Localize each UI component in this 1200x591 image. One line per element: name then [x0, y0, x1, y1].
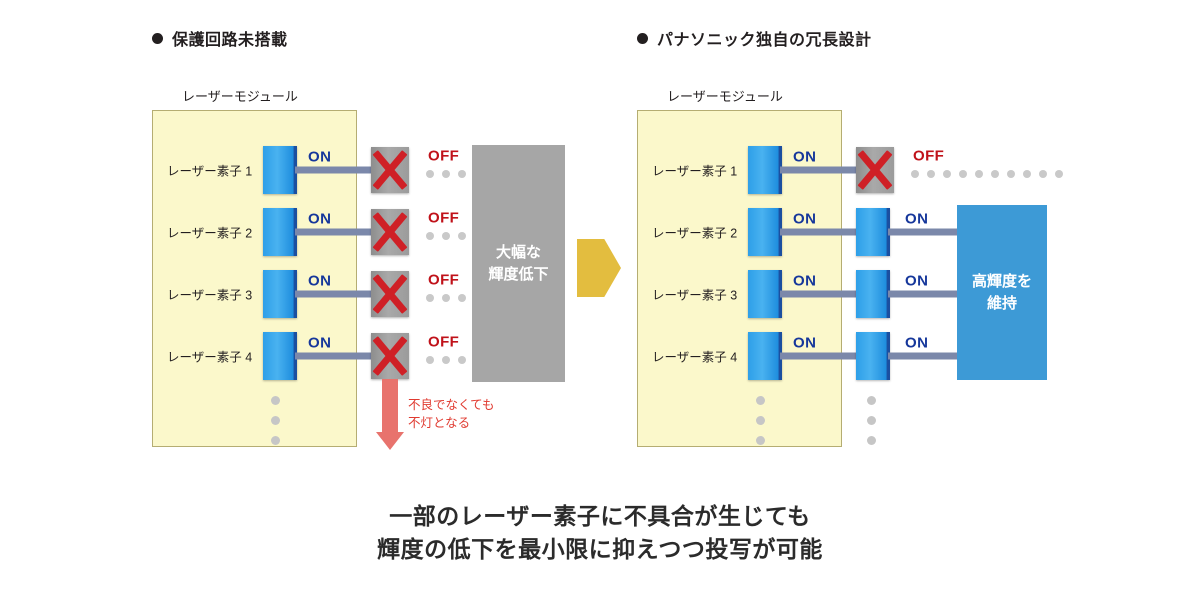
left-off-label-4: OFF — [428, 334, 459, 351]
right-module-caption: レーザーモジュール — [667, 86, 783, 105]
right-output-wire-2 — [888, 229, 958, 236]
right-output-wire-4 — [888, 353, 958, 360]
right-emitter-2 — [748, 208, 782, 256]
left-heading-text: 保護回路未搭載 — [172, 32, 288, 49]
left-result-line2: 輝度低下 — [488, 264, 548, 286]
right-output-on-label-2: ON — [905, 211, 928, 228]
right-row-label-4: レーザー素子 4 — [652, 347, 737, 366]
left-failed-box-1 — [371, 147, 409, 193]
left-failed-box-3 — [371, 271, 409, 317]
right-output-wire-3 — [888, 291, 958, 298]
left-row-label-4: レーザー素子 4 — [167, 347, 252, 366]
right-output-on-label-3: ON — [905, 273, 928, 290]
right-wire-2 — [780, 229, 863, 236]
right-result-box: 高輝度を 維持 — [957, 205, 1047, 380]
right-on-label-1: ON — [793, 149, 816, 166]
left-failure-note: 不良でなくても 不灯となる — [408, 396, 495, 432]
bottom-caption-line1: 一部のレーザー素子に不具合が生じても — [0, 500, 1200, 533]
right-row-label-1: レーザー素子 1 — [652, 161, 737, 180]
right-panel-heading: パナソニック独自の冗長設計 — [637, 26, 872, 50]
right-on-label-4: ON — [793, 335, 816, 352]
left-off-label-2: OFF — [428, 210, 459, 227]
right-wire-3 — [780, 291, 863, 298]
left-wire-4 — [295, 353, 378, 360]
right-ellipsis-dots-drivers — [867, 396, 876, 456]
left-ellipsis-dots — [271, 396, 280, 456]
right-dots-trail-1 — [911, 170, 1071, 178]
right-failed-box-1 — [856, 147, 894, 193]
right-row-label-3: レーザー素子 3 — [652, 285, 737, 304]
left-row-label-1: レーザー素子 1 — [167, 161, 252, 180]
right-output-on-label-4: ON — [905, 335, 928, 352]
bullet-dot-icon — [637, 33, 648, 44]
right-driver-box-4 — [856, 332, 890, 380]
right-on-label-3: ON — [793, 273, 816, 290]
right-on-label-2: ON — [793, 211, 816, 228]
right-emitter-3 — [748, 270, 782, 318]
right-emitter-1 — [748, 146, 782, 194]
right-result-line1: 高輝度を — [972, 271, 1032, 293]
left-panel-heading: 保護回路未搭載 — [152, 26, 288, 50]
left-off-label-3: OFF — [428, 272, 459, 289]
right-wire-4 — [780, 353, 863, 360]
left-on-label-4: ON — [308, 335, 331, 352]
left-emitter-4 — [263, 332, 297, 380]
left-failure-note-line1: 不良でなくても — [408, 396, 495, 414]
bottom-caption: 一部のレーザー素子に不具合が生じても 輝度の低下を最小限に抑えつつ投写が可能 — [0, 500, 1200, 565]
left-result-box: 大幅な 輝度低下 — [472, 145, 565, 382]
left-result-line1: 大幅な — [496, 242, 541, 264]
panel-no-protection-circuit: 保護回路未搭載 レーザーモジュール レーザー素子 1 ON OFF レーザー素子… — [0, 0, 600, 480]
left-failure-note-line2: 不灯となる — [408, 414, 495, 432]
left-wire-2 — [295, 229, 378, 236]
right-row-label-2: レーザー素子 2 — [652, 223, 737, 242]
left-failed-box-4 — [371, 333, 409, 379]
left-row-label-2: レーザー素子 2 — [167, 223, 252, 242]
right-result-line2: 維持 — [987, 293, 1017, 315]
left-on-label-1: ON — [308, 149, 331, 166]
right-driver-box-2 — [856, 208, 890, 256]
bullet-dot-icon — [152, 33, 163, 44]
bottom-caption-line2: 輝度の低下を最小限に抑えつつ投写が可能 — [0, 533, 1200, 566]
right-emitter-4 — [748, 332, 782, 380]
left-failure-bus-tail — [382, 379, 398, 434]
left-failure-arrow-head-icon — [376, 432, 404, 450]
right-wire-1 — [780, 167, 863, 174]
left-module-caption: レーザーモジュール — [182, 86, 298, 105]
left-emitter-3 — [263, 270, 297, 318]
left-row-label-3: レーザー素子 3 — [167, 285, 252, 304]
right-driver-box-3 — [856, 270, 890, 318]
right-off-label-1: OFF — [913, 148, 944, 165]
right-ellipsis-dots-emitters — [756, 396, 765, 456]
left-emitter-2 — [263, 208, 297, 256]
panel-panasonic-redundant-design: パナソニック独自の冗長設計 レーザーモジュール レーザー素子 1 ON OFF … — [600, 0, 1200, 480]
left-wire-1 — [295, 167, 378, 174]
right-heading-text: パナソニック独自の冗長設計 — [657, 32, 872, 49]
left-on-label-3: ON — [308, 273, 331, 290]
left-emitter-1 — [263, 146, 297, 194]
left-failed-box-2 — [371, 209, 409, 255]
left-on-label-2: ON — [308, 211, 331, 228]
left-off-label-1: OFF — [428, 148, 459, 165]
left-wire-3 — [295, 291, 378, 298]
